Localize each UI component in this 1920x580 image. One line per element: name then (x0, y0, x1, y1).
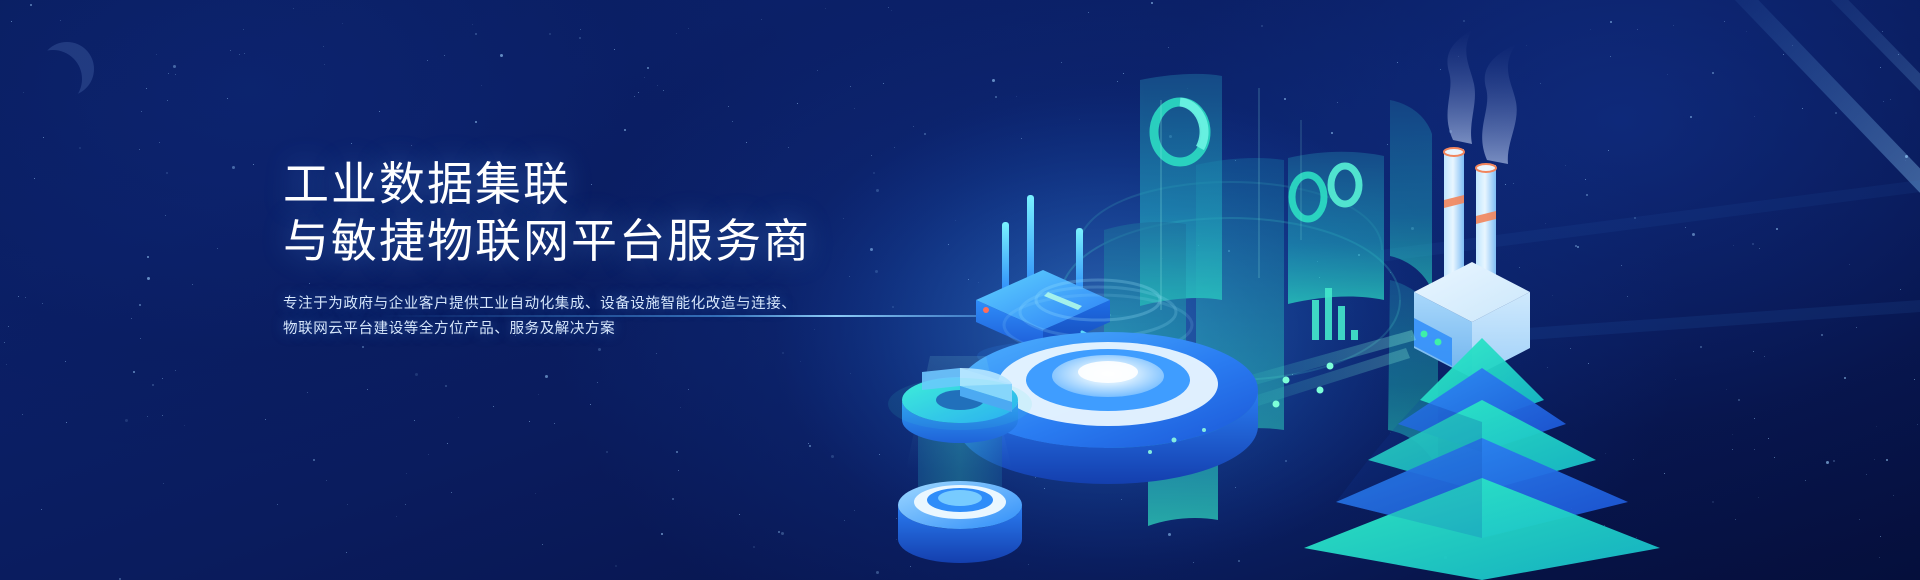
subtitle-line-1: 专注于为政府与企业客户提供工业自动化集成、设备设施智能化改造与连接、 (283, 292, 903, 317)
smokestack-2 (1476, 164, 1496, 308)
platform-top (958, 332, 1258, 448)
network-cable (1082, 332, 1180, 440)
router-device (976, 195, 1110, 370)
smokestack-1 (1444, 148, 1464, 296)
subtitle-line-2: 物联网云平台建设等全方位产品、服务及解决方案 (283, 317, 903, 342)
beam-specks (1148, 428, 1206, 454)
router-left-face (976, 300, 1043, 352)
panel-donut-chart-2 (1292, 166, 1359, 219)
router-antenna-3 (1076, 228, 1083, 294)
platform-side (958, 390, 1258, 484)
factory-box-top (1414, 262, 1530, 322)
smokestack-factory (1414, 30, 1530, 378)
headline-line-2: 与敏捷物联网平台服务商 (283, 213, 903, 270)
router-right-face (1043, 300, 1110, 352)
donut-chart-cylinder (888, 356, 1032, 526)
platform-ripples (1004, 280, 1192, 355)
router-antenna-1 (1027, 195, 1034, 290)
panel-bar-chart (1312, 288, 1358, 340)
beam-glow-dot (1045, 298, 1093, 334)
factory-box-left (1414, 292, 1472, 378)
moon-decoration (40, 42, 94, 96)
smoke-plume-2 (1482, 44, 1517, 164)
router-antenna-2 (1002, 222, 1009, 292)
ring-pedestal (898, 481, 1022, 563)
curved-data-panels (1060, 74, 1438, 526)
corner-light-streaks (1380, 0, 1920, 342)
data-beams (1178, 330, 1416, 430)
data-pyramid (1304, 338, 1660, 580)
hero-copy: 工业数据集联 与敏捷物联网平台服务商 专注于为政府与企业客户提供工业自动化集成、… (283, 156, 903, 342)
headline-line-1: 工业数据集联 (283, 156, 903, 213)
central-platform (958, 280, 1258, 484)
factory-box-right (1472, 292, 1530, 378)
smoke-plume-1 (1447, 30, 1475, 144)
panel-donut-chart-1 (1154, 102, 1206, 162)
router-top (976, 270, 1110, 330)
hero-banner: 工业数据集联 与敏捷物联网平台服务商 专注于为政府与企业客户提供工业自动化集成、… (0, 0, 1920, 580)
